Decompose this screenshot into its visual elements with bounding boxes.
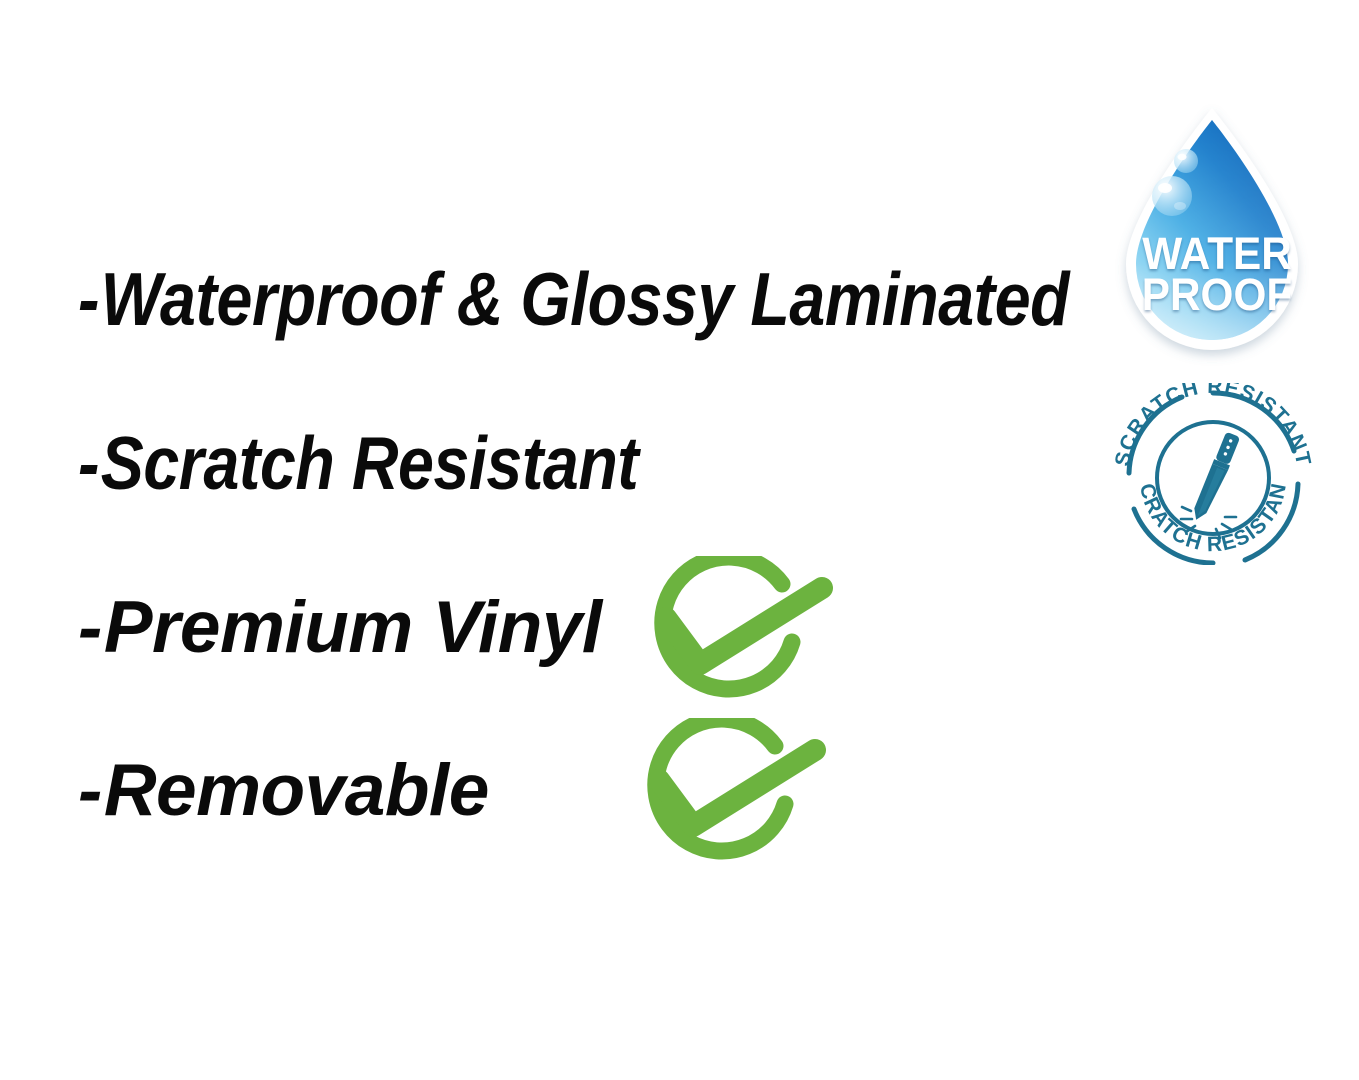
check-tick (666, 588, 822, 664)
feature-bullet-dash: - (78, 256, 99, 342)
bubble-large-lowlight (1174, 202, 1186, 210)
bubble-small-highlight (1178, 154, 1187, 160)
scratch-resistant-badge: SCRATCH RESISTANT SCRATCH RESISTANT (1112, 383, 1314, 565)
bubble-small-icon (1174, 149, 1198, 173)
feature-list: -Waterproof & Glossy Laminated -Scratch … (0, 0, 1100, 1080)
feature-item-scratch-resistant: -Scratch Resistant (78, 420, 638, 506)
checkmark-badge-removable (625, 718, 835, 878)
feature-bullet-dash: - (78, 585, 102, 671)
water-drop-icon (1098, 100, 1336, 366)
waterproof-badge: WATER PROOF (1098, 100, 1336, 366)
droplet-gloss (1136, 120, 1288, 340)
feature-item-premium-vinyl: -Premium Vinyl (78, 585, 602, 671)
checkmark-badge-premium-vinyl (632, 556, 842, 716)
feature-label: Waterproof & Glossy Laminated (101, 257, 1069, 341)
feature-bullet-dash: - (78, 748, 102, 834)
feature-label: Premium Vinyl (104, 587, 602, 668)
scratch-resistant-stamp-icon: SCRATCH RESISTANT SCRATCH RESISTANT (1112, 383, 1314, 565)
feature-label: Removable (104, 750, 489, 831)
check-circle-icon (632, 556, 842, 716)
stamp-text-top: SCRATCH RESISTANT (1112, 383, 1314, 468)
check-circle-icon (625, 718, 835, 878)
feature-item-removable: -Removable (78, 748, 489, 834)
feature-label: Scratch Resistant (101, 421, 639, 505)
knife-icon (1191, 431, 1242, 524)
feature-item-waterproof: -Waterproof & Glossy Laminated (78, 256, 1069, 342)
bubble-large-highlight (1158, 183, 1172, 193)
feature-bullet-dash: - (78, 420, 99, 506)
product-feature-graphic: -Waterproof & Glossy Laminated -Scratch … (0, 0, 1359, 1080)
bubble-large-icon (1152, 176, 1192, 216)
check-tick (659, 750, 815, 826)
